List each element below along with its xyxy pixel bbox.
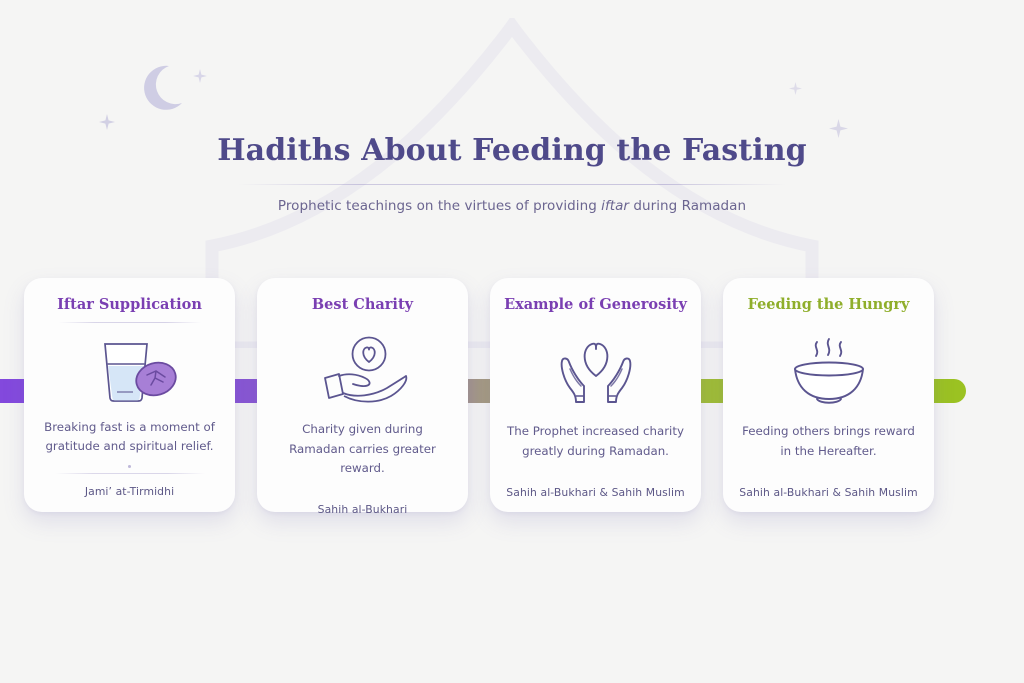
card-source: Sahih al-Bukhari & Sahih Muslim — [739, 486, 917, 499]
card-title-divider — [59, 322, 201, 323]
hadith-card-feeding-the-hungry[interactable]: Feeding the Hungry Feeding others brings… — [723, 278, 934, 512]
glass-of-water-and-date-icon — [83, 337, 177, 404]
crescent-moon-icon — [138, 58, 200, 120]
page-subtitle: Prophetic teachings on the virtues of pr… — [0, 198, 1024, 214]
card-body-text: Feeding others brings reward in the Here… — [739, 422, 919, 460]
subtitle-text-after: during Ramadan — [629, 198, 746, 214]
card-body-text: Breaking fast is a moment of gratitude a… — [40, 418, 220, 456]
card-source: Sahih al-Bukhari — [318, 503, 408, 516]
hadith-card-row: Iftar Supplication Breaking fast is a mo… — [24, 278, 1000, 512]
card-title: Example of Generosity — [504, 296, 687, 313]
hadith-card-iftar-supplication[interactable]: Iftar Supplication Breaking fast is a mo… — [24, 278, 235, 512]
page-title: Hadiths About Feeding the Fasting — [0, 134, 1024, 169]
sparkle-right-upper-icon — [789, 82, 802, 95]
sparkle-left-small-icon — [99, 114, 115, 130]
page-header: Hadiths About Feeding the Fasting Prophe… — [0, 134, 1024, 214]
card-source: Sahih al-Bukhari & Sahih Muslim — [506, 486, 684, 499]
card-body-text: Charity given during Ramadan carries gre… — [273, 420, 453, 477]
card-title: Feeding the Hungry — [748, 296, 910, 313]
card-title: Best Charity — [312, 296, 413, 313]
title-divider — [238, 184, 786, 185]
card-ornament-dot — [128, 465, 131, 468]
card-title: Iftar Supplication — [57, 296, 202, 313]
card-source-divider — [55, 473, 205, 474]
steaming-bowl-icon — [781, 336, 877, 408]
subtitle-emphasis: iftar — [601, 198, 629, 214]
two-hands-cradling-heart-icon — [550, 336, 642, 408]
card-body-text: The Prophet increased charity greatly du… — [506, 422, 686, 460]
card-source: Jami’ at-Tirmidhi — [85, 485, 174, 498]
subtitle-text-before: Prophetic teachings on the virtues of pr… — [278, 198, 601, 214]
hadith-card-example-of-generosity[interactable]: Example of Generosity The Prophet increa… — [490, 278, 701, 512]
hand-holding-heart-icon — [313, 336, 413, 406]
sparkle-moon-right-icon — [193, 69, 207, 83]
hadith-card-best-charity[interactable]: Best Charity Charity given during Ramada… — [257, 278, 468, 512]
